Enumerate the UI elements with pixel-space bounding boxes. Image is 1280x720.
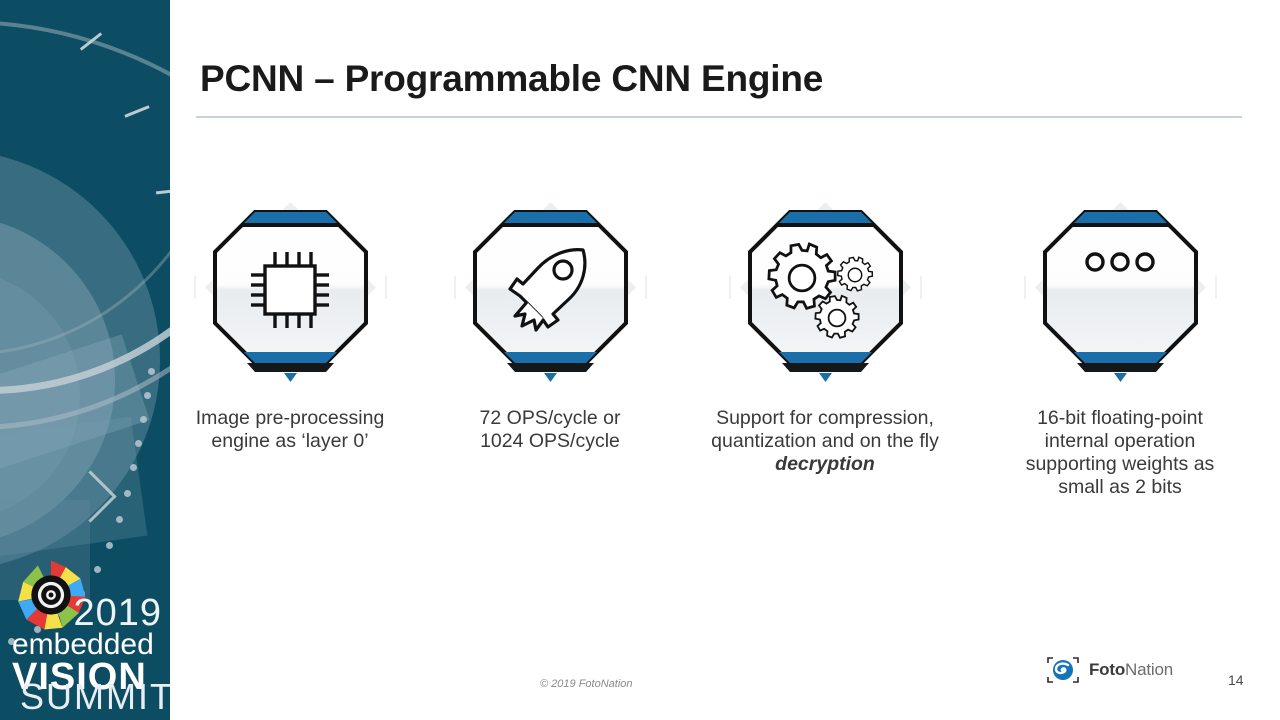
- feature-caption-text: Support for compression, quantization an…: [711, 407, 939, 452]
- brand-name-light: Nation: [1125, 660, 1173, 679]
- three-dots-icon: [1087, 254, 1153, 270]
- feature-item: Image pre-processing engine as ‘layer 0’: [160, 180, 420, 453]
- badge-cpu: [183, 180, 398, 395]
- decorative-sidebar: 2019 embedded VISION SUMMIT: [0, 0, 170, 720]
- sidebar-dot: [116, 516, 123, 523]
- feature-item: Support for compression, quantization an…: [695, 180, 955, 476]
- copyright-text: © 2019 FotoNation: [540, 678, 633, 690]
- sidebar-dot: [148, 368, 155, 375]
- fotonation-logo: FotoNation: [1045, 655, 1173, 685]
- page-title: PCNN – Programmable CNN Engine: [200, 58, 823, 100]
- feature-caption: Image pre-processing engine as ‘layer 0’: [160, 407, 420, 453]
- feature-caption: 16-bit floating-point internal operation…: [990, 407, 1250, 499]
- brand-name-bold: Foto: [1089, 660, 1125, 679]
- feature-caption: Support for compression, quantization an…: [695, 407, 955, 476]
- sidebar-dot: [124, 490, 131, 497]
- sidebar-dot: [140, 416, 147, 423]
- badge-gears: [718, 180, 933, 395]
- badge-dots: [1013, 180, 1228, 395]
- fotonation-mark-icon: [1045, 655, 1081, 685]
- title-divider: [196, 116, 1242, 118]
- feature-item: 16-bit floating-point internal operation…: [990, 180, 1250, 499]
- feature-caption: 72 OPS/cycle or 1024 OPS/cycle: [420, 407, 680, 453]
- sidebar-dot: [135, 440, 142, 447]
- badge-rocket: [443, 180, 658, 395]
- logo-summit: SUMMIT: [20, 676, 170, 718]
- feature-item: 72 OPS/cycle or 1024 OPS/cycle: [420, 180, 680, 453]
- sidebar-dot: [130, 464, 137, 471]
- fotonation-wordmark: FotoNation: [1089, 660, 1173, 680]
- slide-number: 14: [1228, 672, 1244, 688]
- feature-caption-emphasis: decryption: [775, 453, 875, 475]
- embedded-vision-summit-logo: 2019 embedded VISION SUMMIT: [4, 548, 170, 713]
- sidebar-dot: [144, 392, 151, 399]
